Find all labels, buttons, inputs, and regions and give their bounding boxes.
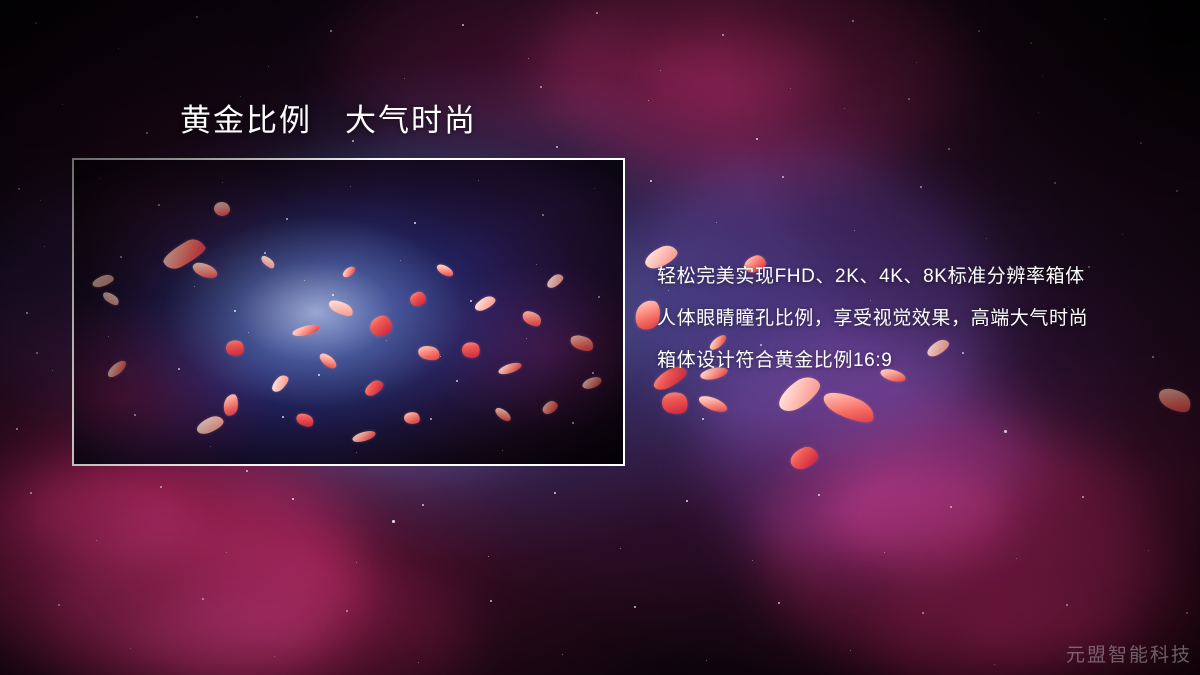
presentation-slide: 黄金比例 大气时尚 轻松完美实现FHD、2K、4K、8K标准分辨率箱体 人体眼睛… <box>0 0 1200 675</box>
page-title: 黄金比例 大气时尚 <box>180 102 477 139</box>
description-line: 人体眼睛瞳孔比例，享受视觉效果，高端大气时尚 <box>657 298 1177 340</box>
description-line: 箱体设计符合黄金比例16:9 <box>657 340 1177 382</box>
description-line: 轻松完美实现FHD、2K、4K、8K标准分辨率箱体 <box>657 256 1177 298</box>
image-panel-frame[interactable] <box>72 158 625 466</box>
watermark: 元盟智能科技 <box>1066 640 1192 667</box>
description-text: 轻松完美实现FHD、2K、4K、8K标准分辨率箱体 人体眼睛瞳孔比例，享受视觉效… <box>657 256 1177 382</box>
